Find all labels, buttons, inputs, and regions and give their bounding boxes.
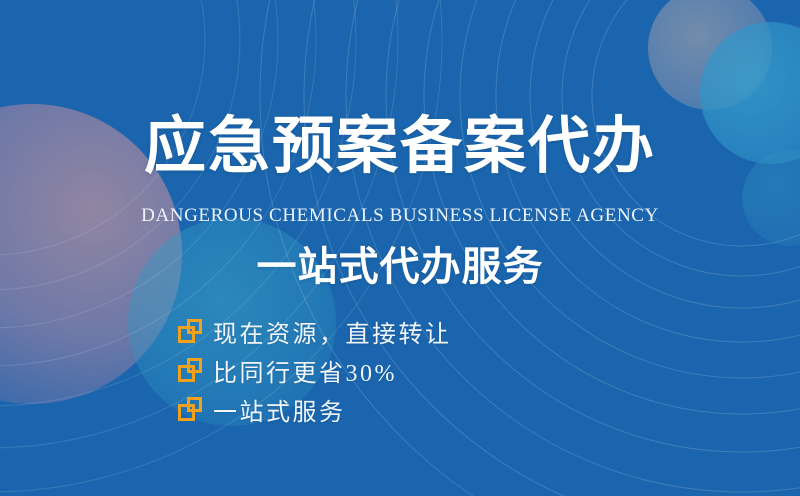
overlapping-squares-icon xyxy=(178,397,202,421)
feature-list: 现在资源，直接转让 比同行更省30% 一站式服务 xyxy=(178,316,452,424)
list-item: 一站式服务 xyxy=(178,394,452,424)
banner-main-title: 应急预案备案代办 xyxy=(0,116,800,178)
feature-label: 比同行更省30% xyxy=(213,353,397,388)
feature-label: 现在资源，直接转让 xyxy=(213,314,452,349)
feature-label: 一站式服务 xyxy=(213,392,346,427)
overlapping-squares-icon xyxy=(178,358,202,382)
banner-subtitle-english: DANGEROUS CHEMICALS BUSINESS LICENSE AGE… xyxy=(0,205,800,227)
list-item: 比同行更省30% xyxy=(178,355,452,385)
promo-banner: 应急预案备案代办 DANGEROUS CHEMICALS BUSINESS LI… xyxy=(0,0,800,496)
list-item: 现在资源，直接转让 xyxy=(178,316,452,346)
overlapping-squares-icon xyxy=(178,319,202,343)
banner-content: 应急预案备案代办 DANGEROUS CHEMICALS BUSINESS LI… xyxy=(0,0,800,496)
banner-subtitle-chinese: 一站式代办服务 xyxy=(0,245,800,289)
